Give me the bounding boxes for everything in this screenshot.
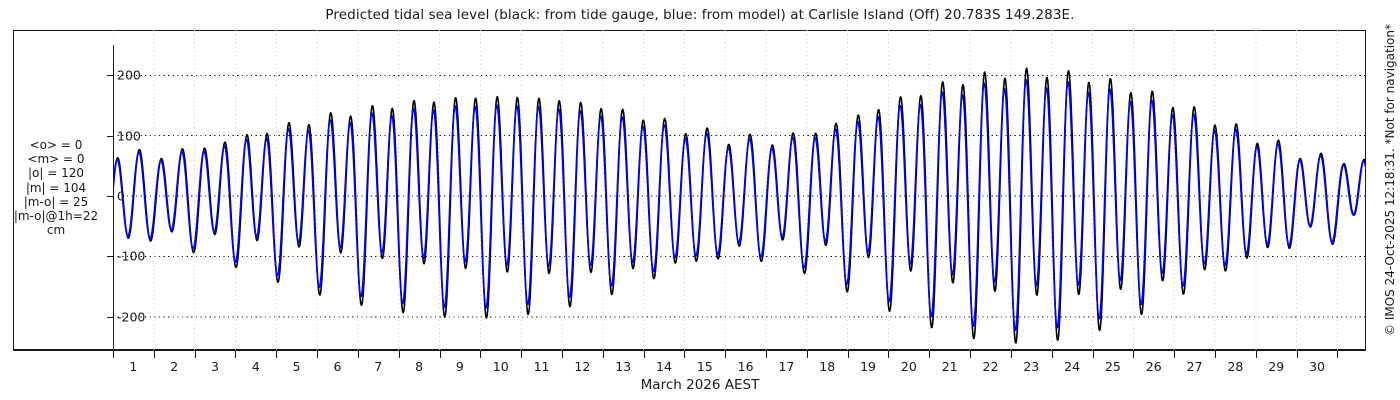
x-tick-mark <box>1256 351 1257 358</box>
x-tick-mark <box>276 351 277 358</box>
x-tick-label: 21 <box>942 359 958 374</box>
x-tick-mark <box>1297 351 1298 358</box>
x-tick-label: 16 <box>738 359 754 374</box>
x-tick-mark <box>480 351 481 358</box>
x-tick-mark <box>725 351 726 358</box>
x-tick-label: 4 <box>252 359 260 374</box>
x-tick-mark <box>970 351 971 358</box>
x-axis-title: March 2026 AEST <box>0 377 1400 393</box>
statistics-line: cm <box>4 223 108 237</box>
x-tick-label: 29 <box>1268 359 1284 374</box>
y-tick-label: 200 <box>117 68 141 83</box>
statistics-line: |m-o|@1h=22 <box>4 209 108 223</box>
x-tick-label: 24 <box>1064 359 1080 374</box>
x-tick-label: 27 <box>1187 359 1203 374</box>
statistics-line: |m| = 104 <box>4 181 108 195</box>
x-tick-mark <box>807 351 808 358</box>
plot-area <box>113 30 1366 350</box>
statistics-line: |m-o| = 25 <box>4 195 108 209</box>
x-tick-mark <box>317 351 318 358</box>
x-tick-label: 23 <box>1023 359 1039 374</box>
x-tick-mark <box>766 351 767 358</box>
x-tick-mark <box>1174 351 1175 358</box>
x-tick-mark <box>235 351 236 358</box>
x-tick-mark <box>399 351 400 358</box>
x-tick-mark <box>440 351 441 358</box>
x-tick-mark <box>1011 351 1012 358</box>
x-tick-mark <box>1215 351 1216 358</box>
statistics-line: |o| = 120 <box>4 166 108 180</box>
series-model <box>113 80 1366 330</box>
y-tick-label: -200 <box>117 309 145 324</box>
copyright-text: © IMOS 24-Oct-2025 12:18:31. *Not for na… <box>1383 24 1397 336</box>
x-tick-label: 14 <box>656 359 672 374</box>
y-tick-label: -100 <box>117 249 145 264</box>
x-tick-label: 11 <box>534 359 550 374</box>
x-tick-mark <box>848 351 849 358</box>
x-tick-mark <box>929 351 930 358</box>
x-tick-mark <box>1093 351 1094 358</box>
y-tick-mark <box>107 75 113 76</box>
x-axis-line <box>13 350 1366 351</box>
x-tick-mark <box>154 351 155 358</box>
x-tick-mark <box>644 351 645 358</box>
page-title: Predicted tidal sea level (black: from t… <box>0 7 1400 23</box>
x-tick-mark <box>1133 351 1134 358</box>
x-tick-label: 30 <box>1309 359 1325 374</box>
x-tick-mark <box>358 351 359 358</box>
y-axis-spine <box>113 45 114 350</box>
y-tick-mark <box>107 136 113 137</box>
x-tick-mark <box>888 351 889 358</box>
x-tick-mark <box>113 351 114 358</box>
x-tick-label: 1 <box>129 359 137 374</box>
y-tick-label: 100 <box>117 128 141 143</box>
x-tick-label: 25 <box>1105 359 1121 374</box>
y-tick-mark <box>107 317 113 318</box>
copyright-notice: © IMOS 24-Oct-2025 12:18:31. *Not for na… <box>1382 0 1398 360</box>
x-tick-label: 2 <box>170 359 178 374</box>
x-tick-label: 9 <box>456 359 464 374</box>
x-tick-mark <box>562 351 563 358</box>
statistics-block: <o> = 0<m> = 0|o| = 120|m| = 104|m-o| = … <box>4 138 108 237</box>
statistics-line: <m> = 0 <box>4 152 108 166</box>
x-tick-label: 15 <box>697 359 713 374</box>
x-tick-mark <box>684 351 685 358</box>
x-tick-label: 8 <box>415 359 423 374</box>
x-tick-mark <box>1337 351 1338 358</box>
y-tick-label: 0 <box>117 189 125 204</box>
x-tick-label: 19 <box>860 359 876 374</box>
x-tick-mark <box>1052 351 1053 358</box>
x-tick-mark <box>195 351 196 358</box>
x-tick-mark <box>603 351 604 358</box>
x-tick-label: 28 <box>1227 359 1243 374</box>
x-tick-label: 17 <box>778 359 794 374</box>
x-tick-label: 13 <box>615 359 631 374</box>
statistics-line: <o> = 0 <box>4 138 108 152</box>
tidal-series-plot <box>113 30 1366 350</box>
x-tick-label: 26 <box>1146 359 1162 374</box>
x-tick-label: 22 <box>983 359 999 374</box>
x-tick-label: 6 <box>333 359 341 374</box>
x-tick-label: 12 <box>574 359 590 374</box>
x-tick-label: 3 <box>211 359 219 374</box>
x-tick-label: 10 <box>493 359 509 374</box>
x-tick-label: 5 <box>293 359 301 374</box>
x-tick-mark <box>521 351 522 358</box>
x-tick-label: 20 <box>901 359 917 374</box>
x-tick-label: 18 <box>819 359 835 374</box>
y-tick-mark <box>107 256 113 257</box>
x-tick-label: 7 <box>374 359 382 374</box>
vertical-gridlines <box>113 30 1337 350</box>
